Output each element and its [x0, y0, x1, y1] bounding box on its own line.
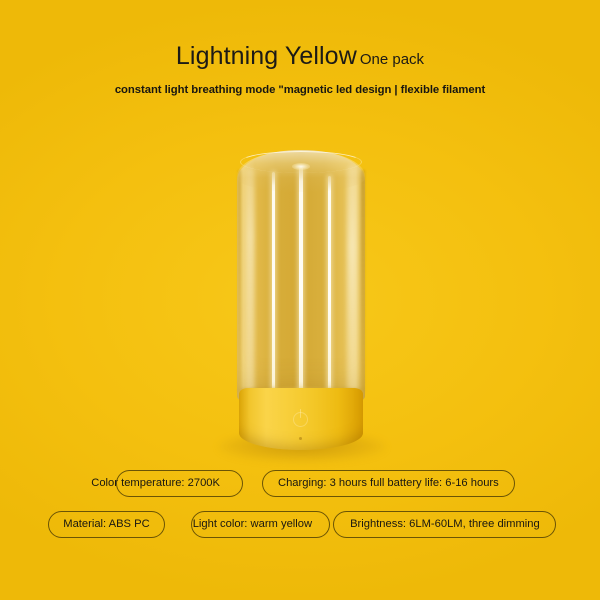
- lamp-glass-edge-right: [361, 170, 365, 392]
- product-banner: Lightning YellowOne pack constant light …: [0, 0, 600, 600]
- spec-pill-label: Light color: warm yellow: [193, 518, 312, 530]
- spec-pill-light-color: Light color: warm yellow: [181, 511, 324, 538]
- spec-pill-material: Material: ABS PC: [48, 511, 164, 538]
- lamp-filament-right: [328, 176, 331, 398]
- lamp-glass-edge-left: [238, 170, 241, 392]
- spec-pill-label: Charging: 3 hours full battery life: 6-1…: [278, 477, 499, 489]
- lamp-glass-highlight-left: [246, 168, 255, 394]
- lamp-glass-highlight-right: [347, 166, 357, 396]
- spec-pill-label: Brightness: 6LM-60LM, three dimming: [350, 518, 540, 530]
- lamp-led-dot: [292, 163, 310, 170]
- spec-row-1: Color temperature: 2700K Charging: 3 hou…: [0, 470, 600, 497]
- lamp: [237, 150, 365, 450]
- spec-pill-color-temperature: Color temperature: 2700K: [85, 470, 236, 497]
- spec-list: Color temperature: 2700K Charging: 3 hou…: [0, 470, 600, 538]
- spec-pill-charging: Charging: 3 hours full battery life: 6-1…: [262, 470, 515, 497]
- spec-pill-label: Color temperature: 2700K: [91, 477, 220, 489]
- lamp-filament-left: [272, 172, 275, 400]
- spec-row-2: Material: ABS PC Light color: warm yello…: [0, 511, 600, 538]
- spec-pill-label: Material: ABS PC: [63, 518, 149, 530]
- lamp-filament-middle: [299, 167, 303, 400]
- spec-pill-brightness: Brightness: 6LM-60LM, three dimming: [338, 511, 552, 538]
- lamp-base-pinhole: [299, 437, 302, 440]
